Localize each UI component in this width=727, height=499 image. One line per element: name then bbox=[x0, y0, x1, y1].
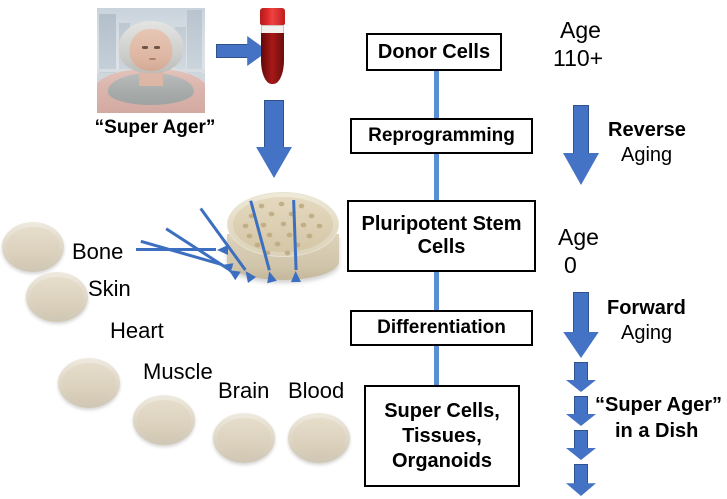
lineage-dish-skin bbox=[26, 272, 88, 322]
super-ager-label: “Super Ager” bbox=[85, 117, 225, 138]
lineage-dish-heart bbox=[58, 358, 120, 408]
age-middle-line2: 0 bbox=[564, 253, 577, 279]
lineage-label-muscle: Muscle bbox=[143, 360, 213, 385]
aging-step-arrow-icon bbox=[566, 430, 596, 460]
pipeline-step-donor-cells[interactable]: Donor Cells bbox=[366, 33, 502, 71]
outcome-label-line1: “Super Ager” bbox=[595, 394, 722, 416]
forward-aging-label-plain: Aging bbox=[621, 322, 672, 344]
tube-cap bbox=[260, 8, 285, 25]
arrow-head bbox=[256, 147, 292, 178]
blood-tube-icon bbox=[260, 8, 285, 84]
outcome-label-line2: in a Dish bbox=[615, 420, 698, 442]
aging-step-arrow-icon bbox=[566, 362, 596, 392]
lineage-label-brain: Brain bbox=[218, 379, 269, 404]
reverse-aging-arrow-icon bbox=[563, 105, 599, 185]
photo-eye-right bbox=[154, 46, 159, 49]
dish-agar bbox=[217, 418, 270, 458]
lineage-dish-brain bbox=[213, 413, 275, 463]
age-top-line1: Age bbox=[560, 18, 601, 44]
lineage-label-heart: Heart bbox=[110, 319, 164, 344]
arrow-head bbox=[566, 483, 596, 496]
arrow-shaft bbox=[573, 292, 589, 333]
age-top-line2: 110+ bbox=[553, 46, 603, 72]
arrow-head bbox=[566, 448, 596, 460]
arrow-shaft bbox=[574, 464, 587, 484]
tube-blood bbox=[261, 33, 284, 84]
aging-step-arrow-icon bbox=[566, 396, 596, 426]
lineage-label-skin: Skin bbox=[88, 277, 131, 302]
reverse-aging-label-bold: Reverse bbox=[608, 119, 686, 141]
pipeline-step-differentiation[interactable]: Differentiation bbox=[350, 310, 533, 346]
arrow-head bbox=[563, 332, 599, 358]
pipeline-step-super-cells[interactable]: Super Cells, Tissues, Organoids bbox=[364, 385, 520, 487]
forward-aging-arrow-icon bbox=[563, 292, 599, 358]
pipeline-connector bbox=[434, 272, 439, 310]
reverse-aging-label-plain: Aging bbox=[621, 144, 672, 166]
dish-agar bbox=[292, 418, 345, 458]
pipeline-step-reprogramming[interactable]: Reprogramming bbox=[350, 118, 533, 154]
pipeline-step-pluripotent-stem-cells[interactable]: Pluripotent Stem Cells bbox=[347, 200, 536, 272]
step-label: Super Cells, Tissues, Organoids bbox=[384, 399, 500, 474]
dish-agar bbox=[62, 363, 115, 403]
arrow-shaft bbox=[216, 44, 248, 57]
arrow-shaft bbox=[574, 430, 587, 449]
step-label: Pluripotent Stem Cells bbox=[361, 213, 521, 259]
arrow-shaft bbox=[264, 100, 284, 148]
arrow-shaft bbox=[574, 362, 587, 381]
aging-step-arrow-icon bbox=[566, 464, 596, 496]
photo-eye-left bbox=[142, 46, 147, 49]
photo-neck bbox=[139, 71, 163, 86]
forward-aging-label-bold: Forward bbox=[607, 297, 686, 319]
age-middle-line1: Age bbox=[558, 225, 599, 251]
arrow-shaft bbox=[574, 396, 587, 415]
pipeline-connector bbox=[434, 153, 439, 201]
step-label: Differentiation bbox=[377, 317, 506, 339]
arrow-head bbox=[563, 153, 599, 185]
step-label: Donor Cells bbox=[378, 41, 490, 64]
dish-agar bbox=[30, 277, 83, 317]
photo-face bbox=[129, 29, 172, 71]
arrow-shaft bbox=[573, 105, 589, 155]
lineage-label-bone: Bone bbox=[72, 240, 123, 265]
dish-agar bbox=[137, 400, 190, 440]
dish-agar bbox=[6, 227, 59, 267]
lineage-dish-bone bbox=[2, 222, 64, 272]
lineage-dish-blood bbox=[288, 413, 350, 463]
photo-building bbox=[187, 10, 202, 73]
lineage-label-blood: Blood bbox=[288, 379, 344, 404]
diagram-canvas: “Super Ager” bbox=[0, 0, 727, 499]
culture-arrow-icon bbox=[256, 100, 292, 178]
photo-building bbox=[99, 14, 116, 73]
super-ager-photo bbox=[97, 8, 205, 113]
arrow-head bbox=[566, 380, 596, 392]
pipeline-connector bbox=[434, 345, 439, 385]
lineage-dish-muscle bbox=[133, 395, 195, 445]
step-label: Reprogramming bbox=[368, 125, 515, 147]
pipeline-connector bbox=[434, 70, 439, 118]
arrow-head bbox=[566, 414, 596, 426]
